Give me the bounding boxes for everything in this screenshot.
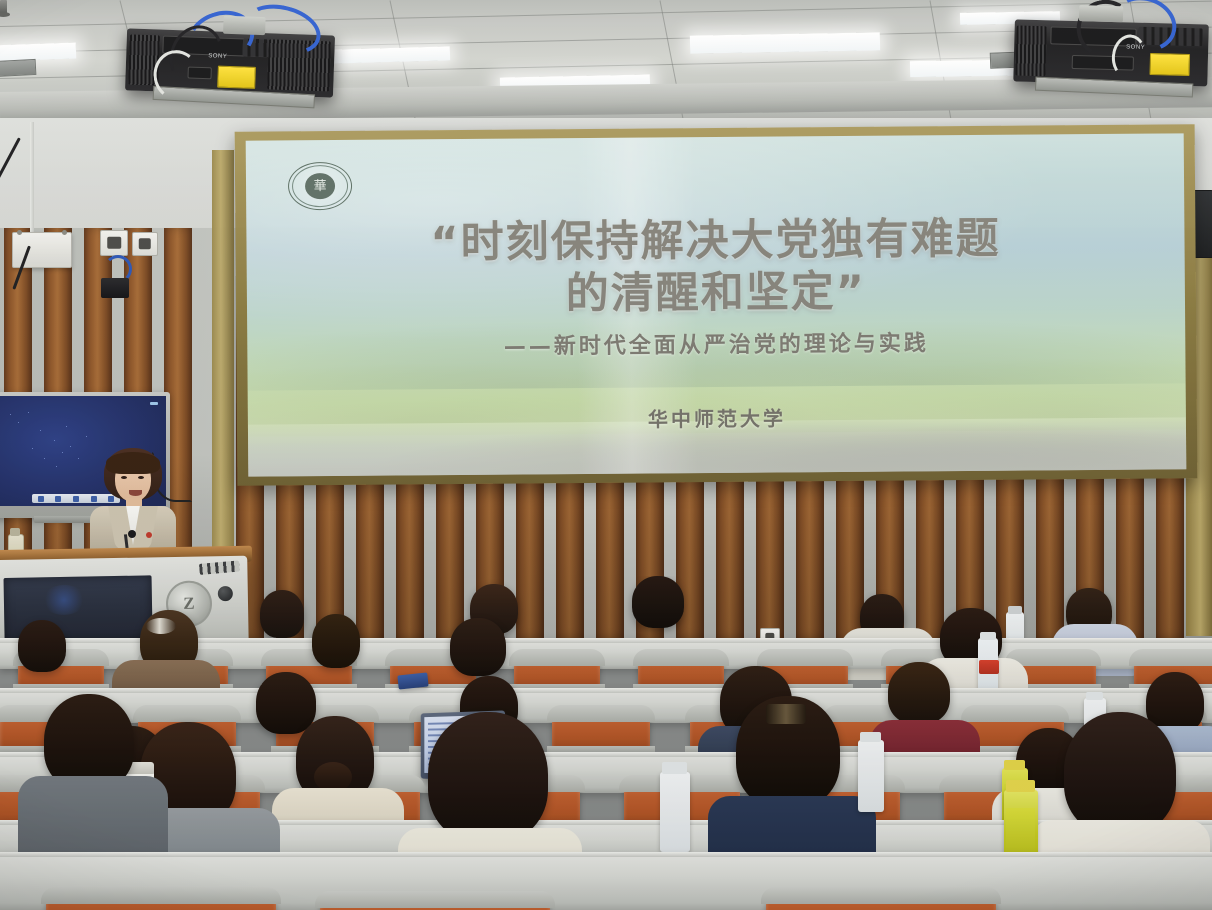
audience-head xyxy=(18,620,66,672)
projection-screen-frame: 華 “时刻保持解决大党独有难题 的清醒和坚定” ——新时代全面从严治党的理论与实… xyxy=(235,124,1198,486)
wall-outlet[interactable] xyxy=(100,230,128,256)
presenter-fringe xyxy=(106,452,160,474)
auditorium-seat[interactable] xyxy=(320,896,550,910)
bottle-cap xyxy=(662,762,687,774)
podium-water-bottle-cap xyxy=(10,528,20,536)
ceiling-light-panel xyxy=(0,43,76,62)
desk-edge xyxy=(0,688,1212,693)
bottle-label xyxy=(979,660,999,674)
audience-head xyxy=(450,618,506,676)
wall-av-module xyxy=(101,278,129,298)
bottle-cap xyxy=(1086,692,1103,700)
desk-edge xyxy=(0,852,1212,857)
water-bottle xyxy=(660,772,690,852)
auditorium-seat[interactable] xyxy=(638,654,724,688)
whiteboard-tool-icon[interactable] xyxy=(38,496,44,502)
ceiling-light-panel xyxy=(690,32,880,53)
bottle-cap xyxy=(1008,606,1022,614)
audience-head xyxy=(256,672,316,734)
whiteboard-tool-icon[interactable] xyxy=(55,496,61,502)
auditorium-seat[interactable] xyxy=(766,892,996,910)
slide-title-line1: “时刻保持解决大党独有难题 xyxy=(246,211,1184,270)
presenter-eye xyxy=(121,476,127,479)
projector-mount-bracket xyxy=(1079,5,1123,22)
slide-title-line2: 的清醒和坚定” xyxy=(247,263,1185,322)
microphone-head xyxy=(128,530,136,538)
projector-mount-bracket xyxy=(223,16,266,35)
ceiling-light-panel xyxy=(330,46,450,63)
projector-warning-label xyxy=(217,66,256,89)
slide-mist xyxy=(248,429,1186,476)
presenter-mouth xyxy=(129,490,142,496)
university-seal-icon: 華 xyxy=(288,162,352,211)
auditorium-seat[interactable] xyxy=(514,654,600,688)
auditorium-seat[interactable] xyxy=(46,892,276,910)
projection-screen[interactable]: 華 “时刻保持解决大党独有难题 的清醒和坚定” ——新时代全面从严治党的理论与实… xyxy=(246,133,1187,476)
audience-seating-area: HUST xyxy=(0,576,1212,910)
audience-head xyxy=(888,662,950,724)
presenter-lapel-pin xyxy=(146,532,152,538)
audience-head xyxy=(312,614,360,668)
water-bottle xyxy=(858,740,884,812)
audience-head xyxy=(632,576,684,628)
bottle-cap xyxy=(1004,760,1025,770)
bottle-cap xyxy=(1006,780,1035,792)
projector-ceiling-right: SONY xyxy=(1013,7,1211,102)
ceiling-drop-pole xyxy=(30,122,34,242)
ceiling-air-vent xyxy=(0,59,36,77)
whiteboard-status-led xyxy=(150,402,158,405)
hair-tie xyxy=(146,618,176,634)
projector-ceiling-left: SONY xyxy=(124,14,337,113)
presenter-eye xyxy=(138,476,144,479)
lecture-hall-photo: SONY SONY xyxy=(0,0,1212,910)
podium-button-strip[interactable] xyxy=(199,560,240,574)
hair-clip xyxy=(766,704,806,724)
audience-head xyxy=(428,712,548,842)
bottle-cap xyxy=(980,632,996,640)
whiteboard-tool-icon[interactable] xyxy=(73,496,79,502)
auditorium-seat[interactable] xyxy=(552,710,650,750)
bottle-cap xyxy=(860,732,881,742)
wall-outlet[interactable] xyxy=(132,232,158,256)
audience-head xyxy=(260,590,304,638)
sprinkler-head xyxy=(0,0,7,16)
audience-head xyxy=(1064,712,1176,834)
slide-title: “时刻保持解决大党独有难题 的清醒和坚定” xyxy=(246,211,1185,322)
projector-warning-label xyxy=(1149,53,1190,76)
